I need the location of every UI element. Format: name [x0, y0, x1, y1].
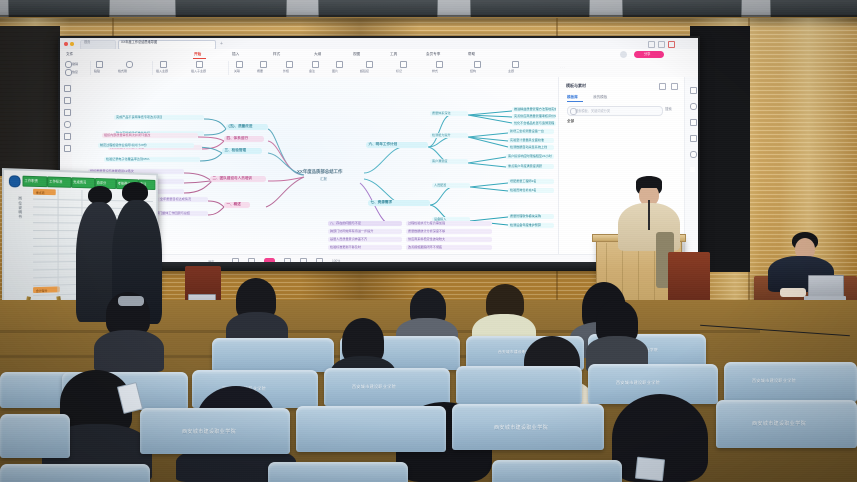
board-side-label: 岗位说明书: [10, 196, 24, 219]
ribbon-separator: [90, 61, 91, 75]
paste-icon[interactable]: [96, 61, 103, 68]
outline-icon[interactable]: [64, 85, 71, 92]
node-icon[interactable]: [160, 61, 167, 68]
mindmap-leaf[interactable]: 检验员岗位补充3名: [508, 188, 554, 193]
operator-papers: [780, 288, 806, 297]
mindmap-leaf[interactable]: 检测设备年度维护预算: [508, 223, 554, 228]
body: [94, 330, 164, 372]
template-search-placeholder: 搜索模板、关键词或分类: [575, 108, 610, 113]
share-button-label: 分享: [644, 52, 650, 57]
mindmap-note[interactable]: 跨部门协同效率有待进一步提升: [328, 229, 402, 234]
mindmap-group-label[interactable]: 人员配置: [432, 183, 470, 188]
minimize-icon[interactable]: [648, 41, 655, 48]
template-panel-title: 模板与素材: [566, 83, 586, 89]
ribbon-relation-label: 关联: [234, 69, 240, 73]
link-icon[interactable]: [366, 61, 373, 68]
mindmap-branch-7[interactable]: 七、资源需求: [368, 200, 430, 206]
ribbon-undo-label: 撤销: [72, 62, 78, 66]
board-column-2-label: 工作标准: [49, 178, 62, 184]
mindmap-group-label[interactable]: 质量体系深化: [430, 111, 468, 116]
template-filter-chip[interactable]: 全部: [567, 119, 574, 124]
style-panel-icon[interactable]: [64, 97, 71, 104]
presenter-hair-top: [636, 176, 662, 188]
board-highlight-top-label: 重点项: [36, 190, 45, 194]
mindmap-note[interactable]: 改善措施跟踪闭环不彻底: [406, 245, 492, 250]
mindmap-note[interactable]: 质量数据统计分析深度不够: [406, 229, 492, 234]
auditorium-seat[interactable]: [212, 338, 334, 372]
close-icon[interactable]: [668, 41, 675, 48]
seat-logo: 西安城市建设职业学院: [352, 384, 396, 390]
menu-tools[interactable]: 工具: [390, 50, 397, 58]
app-right-rail: [684, 77, 698, 266]
mindmap-leaf[interactable]: 组织内部质量审核两次并闭环整改: [102, 133, 198, 138]
window-dot-close[interactable]: [64, 42, 68, 46]
ribbon-marker-label: 标记: [396, 69, 402, 73]
window-dot-min[interactable]: [70, 42, 74, 46]
mindmap-note[interactable]: 供应商来料稳定性波动较大: [406, 237, 492, 242]
app-tab-active-label: XX年度工作总结思维导图: [121, 38, 157, 46]
mindmap-leaf[interactable]: 增配质量工程师2名: [508, 179, 554, 184]
auditorium-seat[interactable]: [0, 414, 70, 458]
notes-icon[interactable]: [64, 109, 71, 116]
mindmap-group-label[interactable]: 客户满意度: [430, 159, 468, 164]
mindmap-note[interactable]: 基层人员质量意识参差不齐: [328, 237, 402, 242]
mindmap-branch-5[interactable]: 一、概述: [224, 202, 250, 208]
image-icon[interactable]: [336, 61, 343, 68]
template-tab-library[interactable]: 模板库: [567, 94, 578, 101]
mindmap-leaf[interactable]: 检测数据自动采集系统上线: [508, 145, 554, 150]
menu-style[interactable]: 样式: [273, 50, 280, 58]
ribbon-theme-label: 主题: [508, 69, 514, 73]
menu-home[interactable]: 开始: [194, 50, 201, 58]
ribbon-subnode-label: 插入子主题: [191, 69, 206, 73]
ribbon-link-label: 超链接: [360, 69, 369, 73]
auditorium-seat[interactable]: [268, 462, 408, 482]
subnode-icon[interactable]: [196, 61, 203, 68]
ribbon-note-label: 备注: [309, 69, 315, 73]
seat-logo: 西安城市建设职业学院: [494, 424, 548, 431]
mindmap-leaf[interactable]: 完善供应商质量管理考核评价体系: [512, 114, 556, 119]
menu-outline[interactable]: 大纲: [314, 50, 321, 58]
cap: [118, 296, 144, 306]
mindmap-branch-4[interactable]: 二、团队建设与人员培训: [210, 176, 266, 182]
theme-icon[interactable]: [512, 61, 519, 68]
mindmap-branch-6[interactable]: 六、明年工作计划: [366, 142, 428, 148]
mindmap-leaf[interactable]: 全年质量目标达成情况: [158, 197, 208, 202]
phone-screen[interactable]: [635, 457, 665, 482]
seat-logo: 西安城市建设职业学院: [616, 380, 660, 386]
style-icon[interactable]: [436, 61, 443, 68]
menu-file[interactable]: 文件: [66, 50, 73, 58]
board-column-4-label: 自评分: [97, 180, 107, 186]
mindmap-leaf[interactable]: 新增三坐标测量设备一台: [508, 129, 554, 134]
search-icon[interactable]: [64, 133, 71, 140]
mindmap-leaf[interactable]: 检验记录电子化覆盖率达到95%: [104, 157, 200, 162]
mindmap-center-subtitle: 汇报: [320, 176, 327, 181]
ribbon-redo-label: 恢复: [72, 70, 78, 74]
mindmap-note[interactable]: 过程检验执行力度仍需加强: [406, 221, 492, 226]
app-ribbon: 撤销 恢复 粘贴 格式刷 插入主题 插入子主题 关联 概要 外框 备注 图片: [60, 59, 698, 78]
note-icon[interactable]: [312, 61, 319, 68]
mindmap-leaf[interactable]: 制定过程检验作业指导书共计28份: [98, 143, 194, 148]
shape-icon[interactable]: [690, 151, 697, 158]
auditorium-seat[interactable]: [0, 464, 150, 482]
menu-view[interactable]: 视图: [353, 50, 360, 58]
ribbon-separator: [228, 61, 229, 75]
mindmap-leaf[interactable]: 客户投诉响应时限缩短至24小时: [506, 154, 554, 159]
mindmap-leaf[interactable]: 实验室计量器具全面校准: [508, 138, 554, 143]
ribbon-summary-label: 概要: [257, 69, 263, 73]
ribbon-separator: [152, 61, 153, 75]
template-tab-mine[interactable]: 我的模板: [593, 94, 607, 101]
mindmap-branch-1[interactable]: (五)、质量改进: [226, 124, 268, 130]
ribbon-overflow-icon[interactable]: · · ·: [560, 65, 565, 69]
relation-icon[interactable]: [236, 61, 243, 68]
seat-logo: 西安城市建设职业学院: [752, 420, 806, 427]
mindmap-note[interactable]: 八、存在的问题与不足: [328, 221, 402, 226]
mindmap-branch-2[interactable]: 四、体系运行: [224, 136, 264, 142]
close-icon[interactable]: [671, 83, 678, 90]
auditorium-seat[interactable]: [296, 406, 446, 452]
maximize-icon[interactable]: [658, 41, 665, 48]
summary-icon[interactable]: [260, 61, 267, 68]
layout-icon[interactable]: [474, 61, 481, 68]
avatar[interactable]: [620, 51, 627, 58]
board-column-1-label: 工作职责: [24, 177, 38, 183]
format-icon[interactable]: [690, 87, 697, 94]
plus-icon[interactable]: +: [220, 41, 223, 47]
theme-icon[interactable]: [690, 103, 697, 110]
menu-insert[interactable]: 插入: [232, 50, 239, 58]
pin-icon[interactable]: [659, 83, 666, 90]
history-icon[interactable]: [64, 121, 71, 128]
ribbon-image-label: 图片: [332, 69, 338, 73]
ribbon-painter-label: 格式刷: [118, 69, 127, 73]
mindmap-leaf[interactable]: 完成产品不良率降低专项改善项目: [114, 115, 204, 120]
template-search-button[interactable]: 搜索: [665, 106, 672, 111]
board-divider: [58, 189, 59, 296]
mindmap-leaf[interactable]: 优化不合格品处置与追溯流程: [512, 121, 556, 126]
ribbon-node-label: 插入主题: [156, 69, 168, 73]
mindmap-group-label[interactable]: 检测能力提升: [430, 133, 468, 138]
undo-icon[interactable]: [65, 61, 72, 68]
format-painter-icon[interactable]: [126, 61, 133, 68]
menu-help[interactable]: 帮助: [468, 50, 475, 58]
redo-icon[interactable]: [65, 69, 72, 76]
mindmap-branch-3[interactable]: 三、检验管理: [222, 148, 262, 154]
microphone-cable: [648, 200, 650, 230]
mindmap-center-title[interactable]: XX年度品质部总结工作: [297, 169, 342, 174]
mindmap-note[interactable]: 检验标准更新不够及时: [328, 245, 402, 250]
wall-recess-left: [0, 26, 60, 176]
school-badge-icon: [9, 175, 21, 187]
board-highlight-bottom-label: 合计得分: [36, 288, 47, 292]
screenshot-root: 首页 XX年度工作总结思维导图 + 文件 开始 插入 样式 大纲 视图 工具 会…: [0, 0, 857, 482]
board-column-3-label: 完成情况: [73, 179, 86, 185]
seat-logo: 西安城市建设职业学院: [182, 428, 236, 435]
marker-icon[interactable]: [690, 135, 697, 142]
more-icon[interactable]: [690, 167, 695, 172]
head-hair: [122, 182, 148, 202]
marker-icon[interactable]: [400, 61, 407, 68]
seat-logo: 西安城市建设职业学院: [752, 378, 796, 384]
ribbon-style-label: 样式: [432, 69, 438, 73]
mindmap-leaf[interactable]: 重点客户年度满意度调研: [506, 164, 554, 169]
auditorium-seat[interactable]: [492, 460, 622, 482]
mindmap-leaf[interactable]: 推进精益质量管理方法落地实施: [512, 107, 556, 112]
more-icon[interactable]: [64, 145, 71, 152]
ribbon-layout-label: 结构: [470, 69, 476, 73]
ribbon-paste-label: 粘贴: [94, 69, 100, 73]
layout-icon[interactable]: [690, 119, 697, 126]
template-tab-underline: [567, 101, 583, 102]
boundary-icon[interactable]: [286, 61, 293, 68]
app-tab-home-label: 首页: [84, 38, 90, 46]
mindmap-leaf[interactable]: 部门整体工作回顾与总结: [154, 211, 208, 216]
ribbon-boundary-label: 外框: [283, 69, 289, 73]
mindmap-leaf[interactable]: 质量管理软件模块采购: [508, 214, 554, 219]
menu-member[interactable]: 会员专享: [426, 50, 440, 58]
auditorium-seat[interactable]: [456, 366, 582, 404]
